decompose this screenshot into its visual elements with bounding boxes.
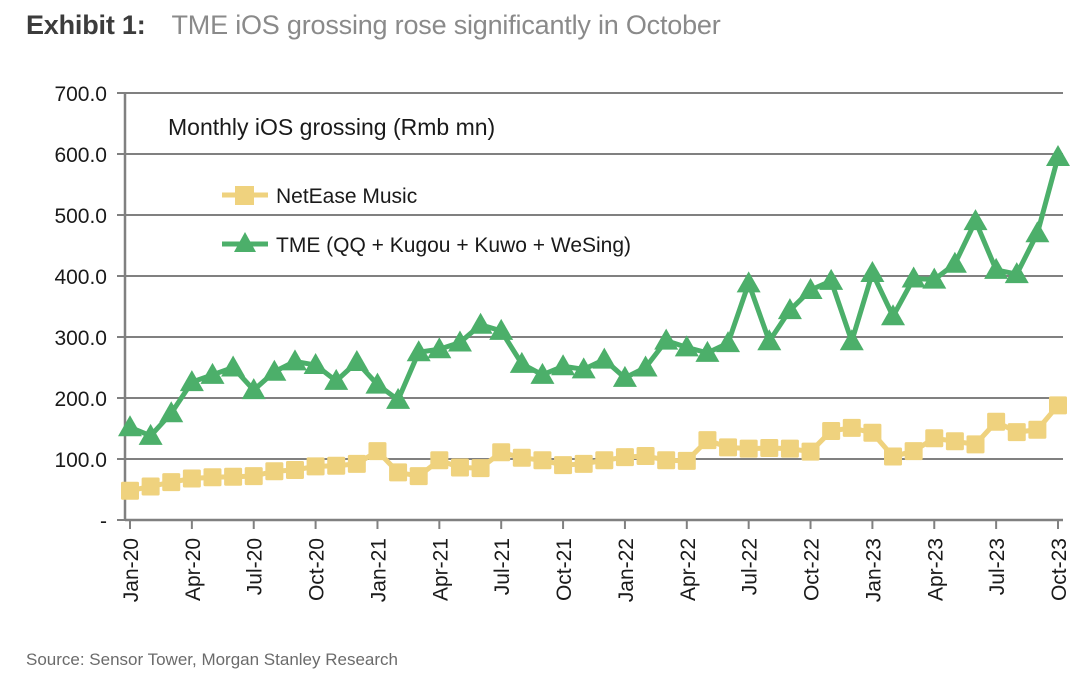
legend-marker-square — [235, 186, 254, 205]
data-point-marker-square — [719, 438, 737, 456]
y-axis-tick-label: 400.0 — [54, 266, 107, 289]
y-axis-tick-label: - — [100, 510, 107, 533]
y-axis-tick-label: 700.0 — [54, 83, 107, 106]
data-point-marker-triangle — [221, 356, 245, 377]
data-point-marker-triangle — [881, 304, 905, 325]
data-point-marker-square — [616, 448, 634, 466]
data-point-marker-triangle — [551, 354, 575, 375]
data-point-marker-square — [637, 447, 655, 465]
gridlines — [125, 93, 1063, 459]
data-point-marker-triangle — [737, 271, 761, 292]
x-axis-tick-label: Jul-23 — [986, 538, 1009, 595]
chart-legend: NetEase Music TME (QQ + Kugou + Kuwo + W… — [222, 185, 631, 257]
data-point-marker-square — [925, 429, 943, 447]
data-point-marker-square — [368, 442, 386, 460]
data-point-marker-square — [121, 482, 139, 500]
data-point-marker-square — [389, 463, 407, 481]
x-axis-tick-label: Jan-23 — [862, 538, 885, 602]
data-point-marker-triangle — [283, 349, 307, 370]
x-axis-tick-label: Oct-21 — [553, 538, 576, 601]
data-point-marker-triangle — [469, 313, 493, 334]
data-point-marker-square — [575, 455, 593, 473]
data-point-marker-square — [327, 457, 345, 475]
x-axis-tick-label: Apr-20 — [182, 538, 205, 601]
chart-container: 700.0600.0500.0400.0300.0200.0100.0- Jan… — [0, 60, 1080, 630]
x-axis-tick-label: Jul-20 — [244, 538, 267, 595]
page-title: TME iOS grossing rose significantly in O… — [172, 10, 721, 41]
data-point-marker-square — [987, 413, 1005, 431]
data-point-marker-square — [265, 462, 283, 480]
data-point-marker-square — [492, 443, 510, 461]
data-point-marker-square — [657, 451, 675, 469]
data-point-marker-triangle — [964, 209, 988, 230]
data-point-marker-triangle — [984, 258, 1008, 279]
data-point-marker-triangle — [1046, 145, 1070, 166]
data-point-marker-triangle — [118, 415, 142, 436]
x-axis-tick-label: Oct-20 — [306, 538, 329, 601]
plot-title: Monthly iOS grossing (Rmb mn) — [168, 114, 495, 140]
series-line-tme — [130, 157, 1058, 436]
data-point-marker-square — [822, 422, 840, 440]
data-point-marker-square — [1028, 421, 1046, 439]
x-axis-tick-label: Oct-23 — [1048, 538, 1071, 601]
data-point-marker-square — [698, 431, 716, 449]
data-point-marker-square — [142, 477, 160, 495]
data-point-marker-square — [946, 432, 964, 450]
series-plot-markers — [118, 145, 1070, 500]
exhibit-label: Exhibit 1: — [26, 10, 146, 41]
data-point-marker-square — [224, 468, 242, 486]
data-point-marker-square — [307, 457, 325, 475]
data-point-marker-square — [451, 459, 469, 477]
x-axis-tick-label: Jul-22 — [739, 538, 762, 595]
x-axis-tick-label: Apr-21 — [429, 538, 452, 601]
data-point-marker-square — [678, 452, 696, 470]
y-axis-tick-label: 500.0 — [54, 205, 107, 228]
data-point-marker-triangle — [860, 261, 884, 282]
data-point-marker-triangle — [1025, 221, 1049, 242]
data-point-marker-square — [245, 467, 263, 485]
data-point-marker-square — [348, 455, 366, 473]
exhibit-header: Exhibit 1: TME iOS grossing rose signifi… — [26, 10, 1066, 54]
data-point-marker-square — [802, 443, 820, 461]
data-point-marker-square — [863, 424, 881, 442]
data-point-marker-square — [781, 440, 799, 458]
legend-item-tme: TME (QQ + Kugou + Kuwo + WeSing) — [222, 232, 631, 257]
data-point-marker-square — [740, 440, 758, 458]
data-point-marker-square — [967, 435, 985, 453]
data-point-marker-square — [554, 456, 572, 474]
x-axis-ticks — [130, 520, 1058, 529]
x-axis-tick-label: Apr-22 — [677, 538, 700, 601]
data-point-marker-square — [183, 470, 201, 488]
data-point-marker-triangle — [345, 350, 369, 371]
y-axis-tick-label: 100.0 — [54, 449, 107, 472]
data-point-marker-triangle — [654, 329, 678, 350]
data-point-marker-square — [410, 467, 428, 485]
series-plot-lines — [130, 157, 1058, 491]
legend-item-netease: NetEase Music — [222, 185, 417, 208]
data-point-marker-square — [884, 448, 902, 466]
y-axis-tick-label: 200.0 — [54, 388, 107, 411]
y-axis-tick-label: 300.0 — [54, 327, 107, 350]
data-point-marker-square — [472, 459, 490, 477]
data-point-marker-square — [162, 473, 180, 491]
data-point-marker-square — [203, 468, 221, 486]
data-point-marker-square — [760, 439, 778, 457]
x-axis-tick-label: Oct-22 — [801, 538, 824, 601]
data-point-marker-triangle — [840, 329, 864, 350]
data-point-marker-square — [286, 461, 304, 479]
y-axis-tick-labels: 700.0600.0500.0400.0300.0200.0100.0- — [54, 83, 107, 533]
data-point-marker-triangle — [943, 252, 967, 273]
data-point-marker-square — [595, 451, 613, 469]
source-note: Source: Sensor Tower, Morgan Stanley Res… — [26, 650, 398, 670]
x-axis-tick-label: Jan-22 — [615, 538, 638, 602]
x-axis-tick-label: Jan-21 — [367, 538, 390, 602]
data-point-marker-square — [1049, 396, 1067, 414]
data-point-marker-triangle — [819, 269, 843, 290]
data-point-marker-square — [430, 451, 448, 469]
data-point-marker-square — [513, 449, 531, 467]
data-point-marker-square — [905, 442, 923, 460]
y-axis-tick-label: 600.0 — [54, 144, 107, 167]
x-axis-tick-label: Jul-21 — [491, 538, 514, 595]
data-point-marker-square — [1008, 423, 1026, 441]
data-point-marker-triangle — [716, 331, 740, 352]
x-axis-tick-labels: Jan-20Apr-20Jul-20Oct-20Jan-21Apr-21Jul-… — [120, 538, 1071, 602]
data-point-marker-square — [843, 419, 861, 437]
data-point-marker-triangle — [592, 348, 616, 369]
legend-label-tme: TME (QQ + Kugou + Kuwo + WeSing) — [276, 234, 631, 257]
legend-label-netease: NetEase Music — [276, 185, 417, 208]
x-axis-tick-label: Apr-23 — [924, 538, 947, 601]
data-point-marker-square — [533, 451, 551, 469]
x-axis-tick-label: Jan-20 — [120, 538, 143, 602]
line-chart: 700.0600.0500.0400.0300.0200.0100.0- Jan… — [0, 60, 1080, 630]
